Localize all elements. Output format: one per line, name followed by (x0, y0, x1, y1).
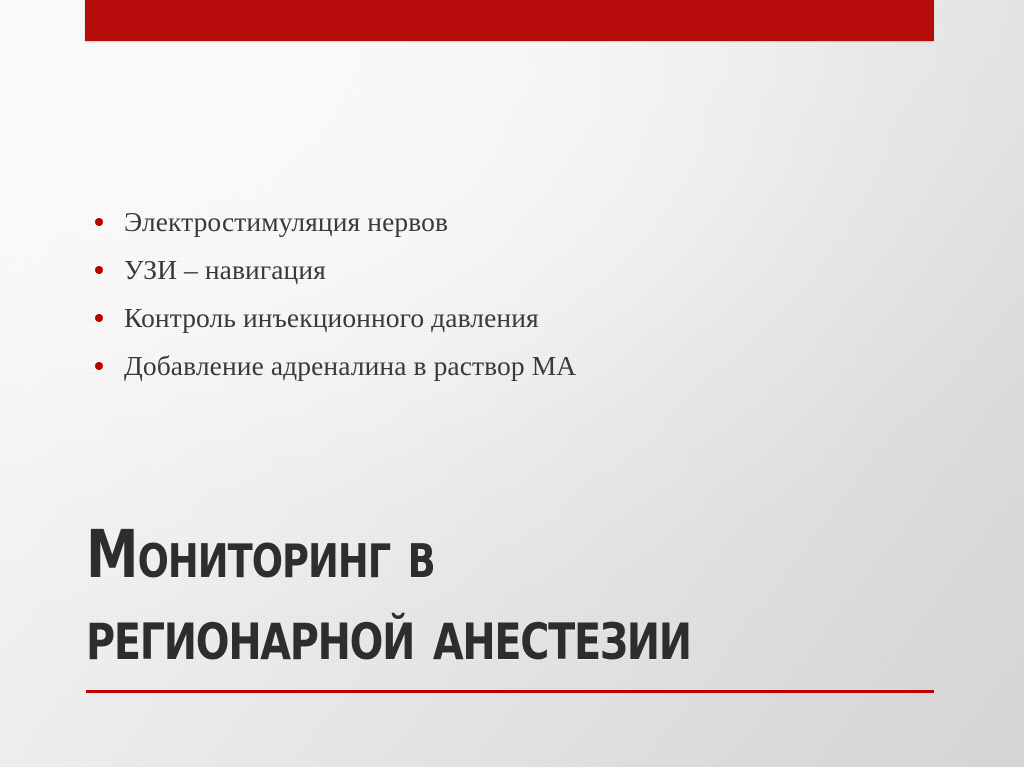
slide-title: Мониторинг в регионарной анестезии (86, 516, 946, 674)
bullet-dot-icon (95, 218, 103, 226)
bullet-dot-icon (95, 362, 103, 370)
slide-title-line-2: регионарной анестезии (86, 594, 770, 674)
list-item[interactable]: Добавление адреналина в раствор МА (88, 344, 908, 392)
list-item[interactable]: Электростимуляция нервов (88, 200, 908, 248)
slide-title-line-1: Мониторинг в (86, 516, 774, 594)
bullet-item-label: Добавление адреналина в раствор МА (124, 344, 908, 388)
presentation-slide: Электростимуляция нервов УЗИ – навигация… (0, 0, 1024, 767)
bullet-item-label: Контроль инъекционного давления (124, 296, 908, 340)
bullet-item-label: УЗИ – навигация (124, 248, 908, 292)
bullet-dot-icon (95, 314, 103, 322)
bullet-dot-icon (95, 266, 103, 274)
top-red-banner (85, 0, 934, 41)
bullet-list: Электростимуляция нервов УЗИ – навигация… (88, 200, 908, 392)
title-underline-rule (86, 690, 934, 693)
bullet-item-label: Электростимуляция нервов (124, 200, 908, 244)
list-item[interactable]: УЗИ – навигация (88, 248, 908, 296)
list-item[interactable]: Контроль инъекционного давления (88, 296, 908, 344)
